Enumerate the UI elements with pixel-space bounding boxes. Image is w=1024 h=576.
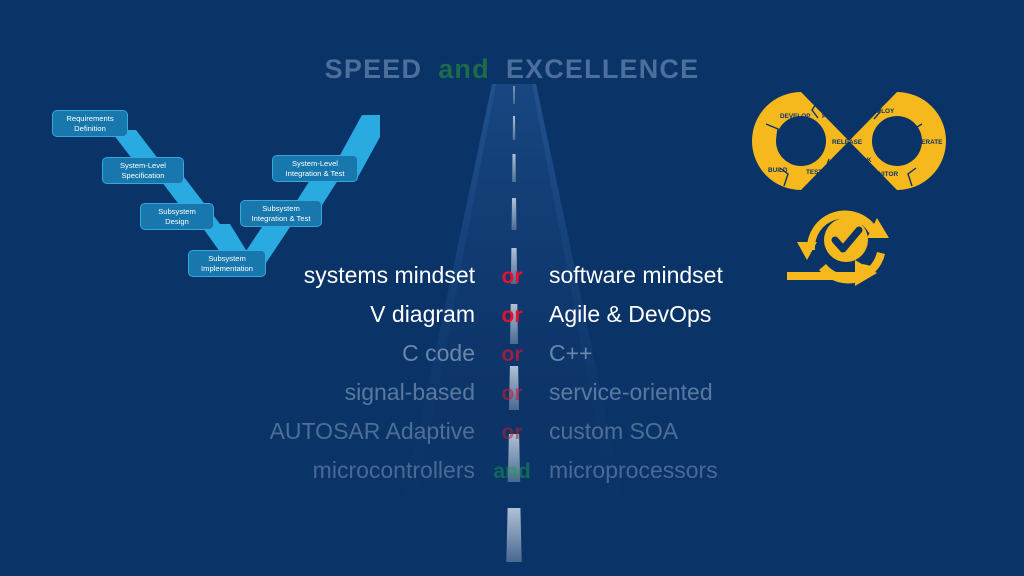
v-box-subsystem-integration-test: Subsystem Integration & Test [240,200,322,227]
v-box-system-level-specification: System-Level Specification [102,157,184,184]
row-right-term: microprocessors [549,457,1024,484]
page-title: SPEEDandEXCELLENCE [0,54,1024,85]
row-right-term: custom SOA [549,418,1024,445]
row-right-term: service-oriented [549,379,1024,406]
row-left-term: AUTOSAR Adaptive [0,418,475,445]
row-left-term: V diagram [0,301,475,328]
row-left-term: C code [0,340,475,367]
v-box-requirements-definition: Requirements Definition [52,110,128,137]
devops-label-test: TEST [806,169,822,176]
infinity-left-hole [776,116,826,166]
devops-label-release: RELEASE [832,139,863,146]
devops-label-build: BUILD [768,167,788,174]
devops-label-deploy: DEPLOY [868,108,895,115]
comparison-list: systems mindset or software mindset V di… [0,262,1024,496]
comparison-row: signal-based or service-oriented [0,379,1024,418]
row-connector: or [475,304,549,328]
row-connector: or [475,421,549,445]
title-and: and [438,54,490,85]
row-connector: or [475,343,549,367]
row-right-term: Agile & DevOps [549,301,1024,328]
title-excellence: EXCELLENCE [506,54,700,85]
row-right-term: software mindset [549,262,1024,289]
devops-label-develop: DEVELOP [780,113,811,120]
row-left-term: microcontrollers [0,457,475,484]
comparison-row: AUTOSAR Adaptive or custom SOA [0,418,1024,457]
row-connector: or [475,382,549,406]
v-box-system-level-integration-test: System-Level Integration & Test [272,155,358,182]
slide-canvas: SPEEDandEXCELLENCE Requirements Definiti… [0,0,1024,576]
row-connector: and [475,460,549,484]
devops-label-monitor: MONITOR [868,171,898,178]
row-left-term: signal-based [0,379,475,406]
devops-label-operate: OPERATE [912,139,943,146]
row-left-term: systems mindset [0,262,475,289]
comparison-row: microcontrollers and microprocessors [0,457,1024,496]
row-right-term: C++ [549,340,1024,367]
title-speed: SPEED [325,54,423,85]
devops-label-plan: PLAN [822,113,840,120]
comparison-row: C code or C++ [0,340,1024,379]
v-box-subsystem-design: Subsystem Design [140,203,214,230]
devops-label-feedback: FEEDBACK [836,157,872,164]
devops-infinity-loop: DEVELOP PLAN RELEASE DEPLOY OPERATE MONI… [744,86,954,196]
comparison-row: systems mindset or software mindset [0,262,1024,301]
row-connector: or [475,265,549,289]
comparison-row: V diagram or Agile & DevOps [0,301,1024,340]
